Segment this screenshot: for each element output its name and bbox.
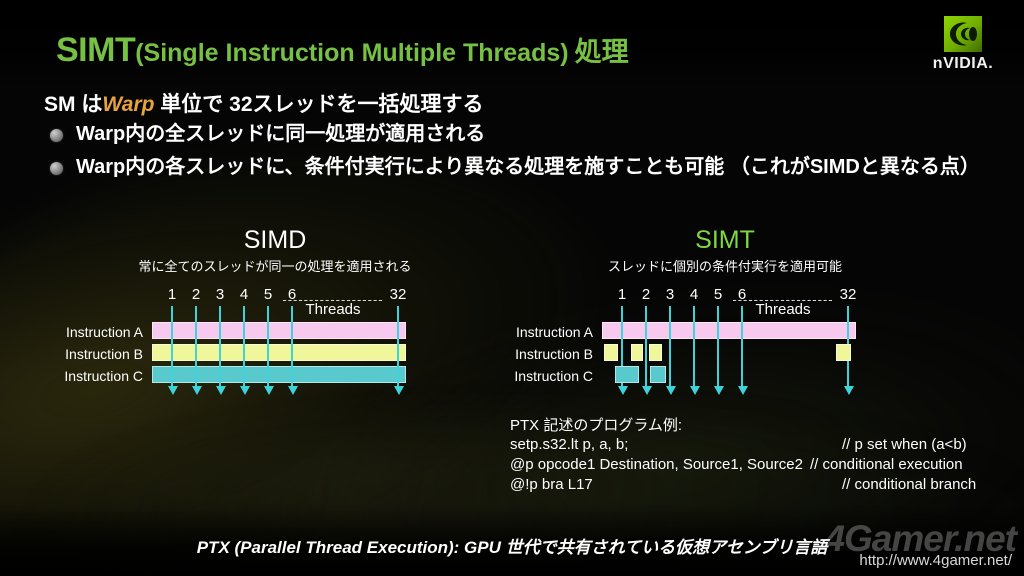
simd-instruction-label: Instruction C <box>58 368 143 384</box>
simt-tick-label: 4 <box>690 286 698 303</box>
simt-thread-arrow-head <box>690 386 700 395</box>
simd-bar-instruction-b <box>152 344 406 361</box>
simt-bar-segment <box>650 366 666 383</box>
simd-tick-label: 6 <box>288 286 296 303</box>
watermark-url: http://www.4gamer.net/ <box>859 552 1012 569</box>
simd-subtitle: 常に全てのスレッドが同一の処理を適用される <box>95 256 455 275</box>
simd-thread-arrow <box>291 306 293 386</box>
bullet-text: Warp内の全スレッドに同一処理が適用される <box>76 122 485 146</box>
slide-root: nVIDIA. SIMT(Single Instruction Multiple… <box>0 0 1024 576</box>
simt-tick-label: 1 <box>618 286 626 303</box>
simt-tick-label: 32 <box>840 286 857 303</box>
simt-thread-arrow <box>693 306 695 386</box>
simd-thread-arrow-head <box>264 386 274 395</box>
simd-title: SIMD <box>175 226 375 255</box>
simt-tick-label: 6 <box>738 286 746 303</box>
simt-bar-segment <box>615 366 638 383</box>
simd-thread-arrow <box>171 306 173 386</box>
simd-thread-arrow <box>243 306 245 386</box>
simt-thread-arrow-head <box>666 386 676 395</box>
simt-instruction-label: Instruction B <box>508 346 593 362</box>
ptx-heading: PTX 記述のプログラム例: <box>510 414 682 435</box>
simt-thread-arrow <box>741 306 743 386</box>
simt-bar-segment <box>604 344 617 361</box>
bullet-dot-icon <box>50 162 63 175</box>
simd-bar-instruction-a <box>152 322 406 339</box>
simd-thread-arrow <box>219 306 221 386</box>
nvidia-wordmark: nVIDIA. <box>922 55 1004 73</box>
simt-thread-arrow <box>717 306 719 386</box>
bullet-dot-icon <box>50 129 63 142</box>
simd-thread-arrow-head <box>168 386 178 395</box>
simd-instruction-label: Instruction B <box>58 346 143 362</box>
nvidia-eye-icon <box>941 14 985 54</box>
simt-thread-arrow-head <box>714 386 724 395</box>
simd-thread-arrow <box>195 306 197 386</box>
nvidia-logo: nVIDIA. <box>922 14 1004 74</box>
lead-suffix: 単位で 32スレッドを一括処理する <box>154 93 483 116</box>
simd-thread-arrow-head <box>192 386 202 395</box>
simt-bar-segment <box>649 344 662 361</box>
simt-thread-arrow-head <box>618 386 628 395</box>
lead-prefix: SM は <box>44 93 102 116</box>
simt-subtitle: スレッドに個別の条件付実行を適用可能 <box>545 256 905 275</box>
simt-thread-arrow <box>669 306 671 386</box>
simd-thread-arrow <box>397 306 399 386</box>
simd-tick-label: 2 <box>192 286 200 303</box>
title-japanese: 処理 <box>575 37 629 67</box>
simd-thread-arrow-head <box>216 386 226 395</box>
simd-thread-arrow-head <box>288 386 298 395</box>
simd-tick-label: 5 <box>264 286 272 303</box>
ptx-code: @p opcode1 Destination, Source1, Source2 <box>510 456 803 473</box>
simd-tick-label: 4 <box>240 286 248 303</box>
simd-bar-instruction-c <box>152 366 406 383</box>
simt-instruction-label: Instruction C <box>508 368 593 384</box>
lead-line: SM はWarp 単位で 32スレッドを一括処理する <box>44 88 484 118</box>
page-title: SIMT(Single Instruction Multiple Threads… <box>56 30 629 70</box>
simd-tick-label: 1 <box>168 286 176 303</box>
title-parenthetical: (Single Instruction Multiple Threads) <box>135 39 568 67</box>
simd-thread-arrow <box>267 306 269 386</box>
ptx-code: @!p bra L17 <box>510 476 593 493</box>
lead-warp-emphasis: Warp <box>102 93 154 116</box>
simt-thread-arrow-head <box>738 386 748 395</box>
simd-thread-arrow-head <box>240 386 250 395</box>
simt-tick-label: 2 <box>642 286 650 303</box>
simt-tick-label: 5 <box>714 286 722 303</box>
title-main: SIMT <box>56 31 135 69</box>
simd-tick-label: 32 <box>390 286 407 303</box>
simt-bar-segment <box>836 344 851 361</box>
simt-thread-arrow <box>645 306 647 386</box>
bullet-item: Warp内の全スレッドに同一処理が適用される <box>50 122 930 146</box>
ptx-code: setp.s32.lt p, a, b; <box>510 436 628 453</box>
simt-tick-label: 3 <box>666 286 674 303</box>
ptx-comment: // p set when (a<b) <box>842 436 967 453</box>
ptx-comment: // conditional execution <box>810 456 963 473</box>
simt-title: SIMT <box>625 226 825 255</box>
simt-thread-arrow-head <box>642 386 652 395</box>
ptx-comment: // conditional branch <box>842 476 976 493</box>
simt-thread-arrow-head <box>844 386 854 395</box>
simd-instruction-label: Instruction A <box>58 324 143 340</box>
simd-tick-label: 3 <box>216 286 224 303</box>
simt-threads-label: Threads <box>755 301 810 318</box>
bullet-item: Warp内の各スレッドに、条件付実行により異なる処理を施すことも可能 （これがS… <box>50 155 980 179</box>
bullet-text: Warp内の各スレッドに、条件付実行により異なる処理を施すことも可能 （これがS… <box>76 155 980 179</box>
simd-thread-arrow-head <box>394 386 404 395</box>
simt-bar-instruction-a <box>602 322 856 339</box>
simd-threads-label: Threads <box>305 301 360 318</box>
simt-bar-segment <box>631 344 644 361</box>
simt-instruction-label: Instruction A <box>508 324 593 340</box>
